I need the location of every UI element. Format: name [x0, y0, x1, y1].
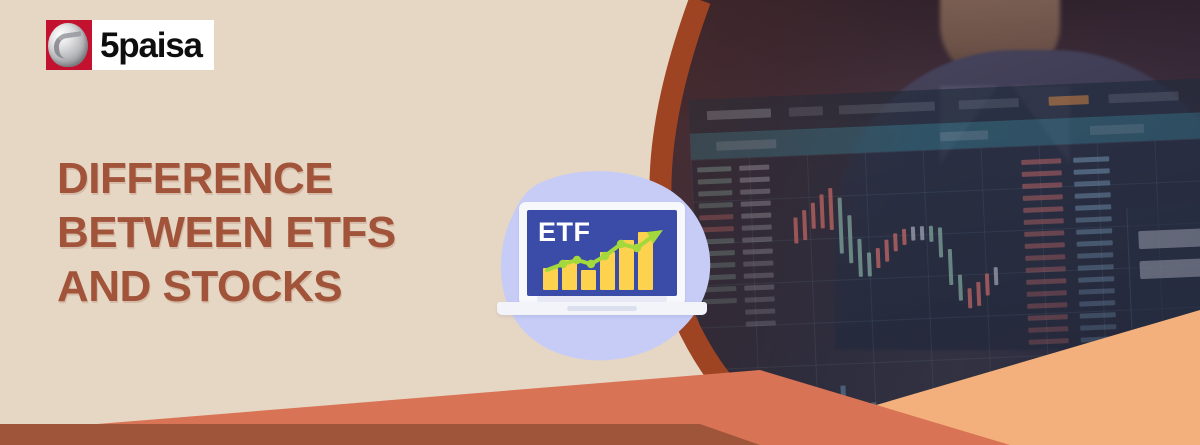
brand-logo-text: 5paisa — [92, 20, 214, 70]
laptop: ETF — [519, 202, 685, 320]
brand-logo[interactable]: 5paisa — [46, 20, 214, 70]
laptop-lid: ETF — [519, 202, 685, 306]
coin-emblem-icon — [46, 20, 92, 70]
terminal-chart-area — [691, 136, 1200, 429]
page-title: DIFFERENCE BETWEEN ETFS AND STOCKS — [57, 152, 487, 314]
coin-shape — [48, 23, 88, 67]
etf-laptop-illustration: ETF — [492, 163, 724, 363]
page-title-line-1: DIFFERENCE — [57, 152, 487, 206]
terminal-overlay — [688, 76, 1200, 429]
trading-terminal-photo — [640, 0, 1200, 445]
page-title-line-3: AND STOCKS — [57, 260, 487, 314]
laptop-screen: ETF — [527, 210, 677, 296]
trend-line-arrow-icon — [541, 230, 671, 292]
laptop-base — [497, 302, 707, 315]
banner: 5paisa DIFFERENCE BETWEEN ETFS AND STOCK… — [0, 0, 1200, 445]
page-title-line-2: BETWEEN ETFS — [57, 206, 487, 260]
terminal-side-panel — [1126, 203, 1200, 445]
